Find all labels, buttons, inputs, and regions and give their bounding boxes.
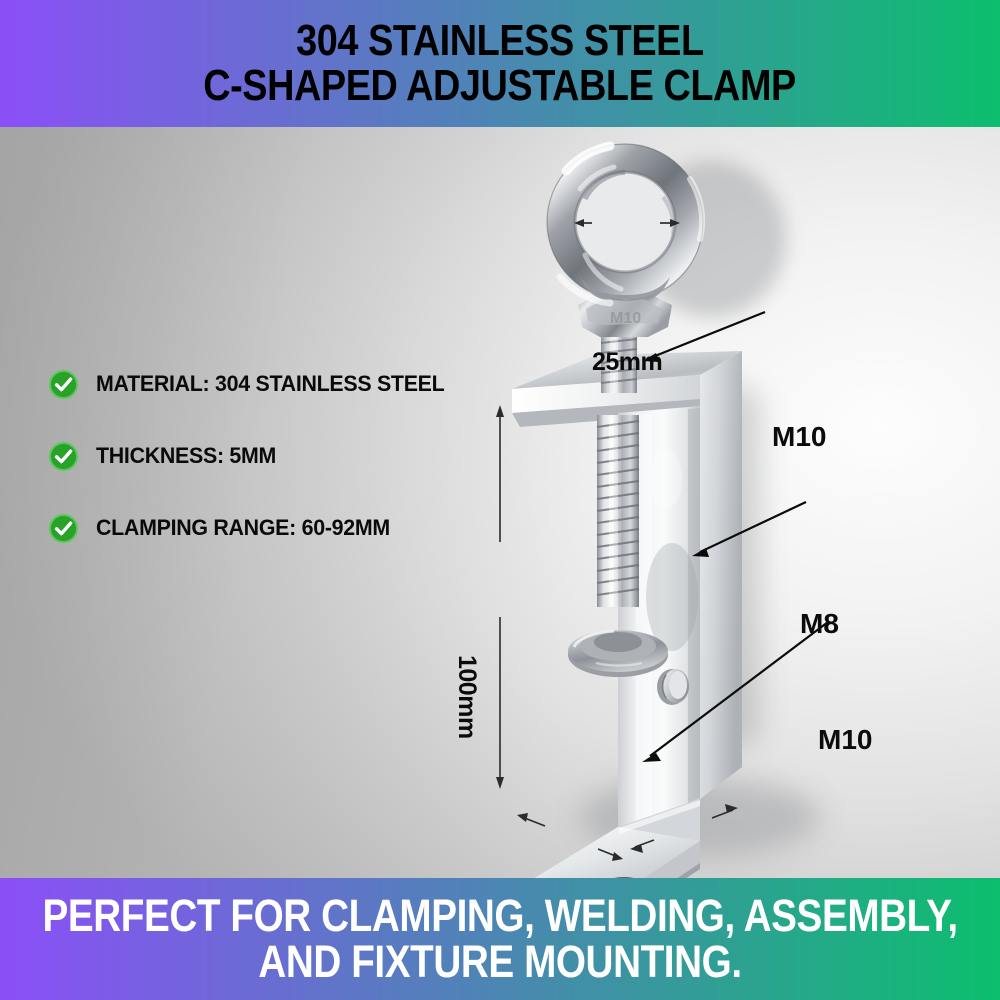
footer-text-line-1: PERFECT FOR CLAMPING, WELDING, ASSEMBLY,	[42, 893, 957, 939]
check-circle-icon	[48, 369, 79, 400]
callout-label-m10-base-hole: M10	[818, 724, 872, 756]
footer-text-line-2: AND FIXTURE MOUNTING.	[258, 939, 741, 985]
svg-text:M10: M10	[610, 310, 641, 327]
product-showcase-area: M10	[0, 127, 1000, 878]
feature-label: MATERIAL: 304 STAINLESS STEEL	[96, 371, 444, 397]
dimension-label-ring-diameter: 25mm	[592, 348, 662, 377]
header-title-line-2: C-SHAPED ADJUSTABLE CLAMP	[204, 64, 797, 109]
swivel-pad	[568, 630, 668, 677]
check-circle-icon	[48, 513, 79, 544]
check-circle-icon	[48, 441, 79, 472]
feature-list: MATERIAL: 304 STAINLESS STEEL THICKNESS:…	[48, 367, 518, 583]
header-banner: 304 STAINLESS STEEL C-SHAPED ADJUSTABLE …	[0, 0, 1000, 127]
feature-label: CLAMPING RANGE: 60-92MM	[96, 515, 390, 541]
dimension-label-height: 100mm	[452, 655, 481, 739]
header-title-line-1: 304 STAINLESS STEEL	[296, 19, 703, 64]
callout-label-m8-side-pin: M8	[800, 608, 839, 640]
infographic-canvas: 304 STAINLESS STEEL C-SHAPED ADJUSTABLE …	[0, 0, 1000, 1000]
callout-label-m10-eye-bolt: M10	[772, 421, 826, 453]
footer-banner: PERFECT FOR CLAMPING, WELDING, ASSEMBLY,…	[0, 878, 1000, 1000]
feature-item: THICKNESS: 5MM	[48, 439, 518, 473]
feature-label: THICKNESS: 5MM	[96, 443, 276, 469]
feature-item: CLAMPING RANGE: 60-92MM	[48, 511, 518, 545]
feature-item: MATERIAL: 304 STAINLESS STEEL	[48, 367, 518, 401]
